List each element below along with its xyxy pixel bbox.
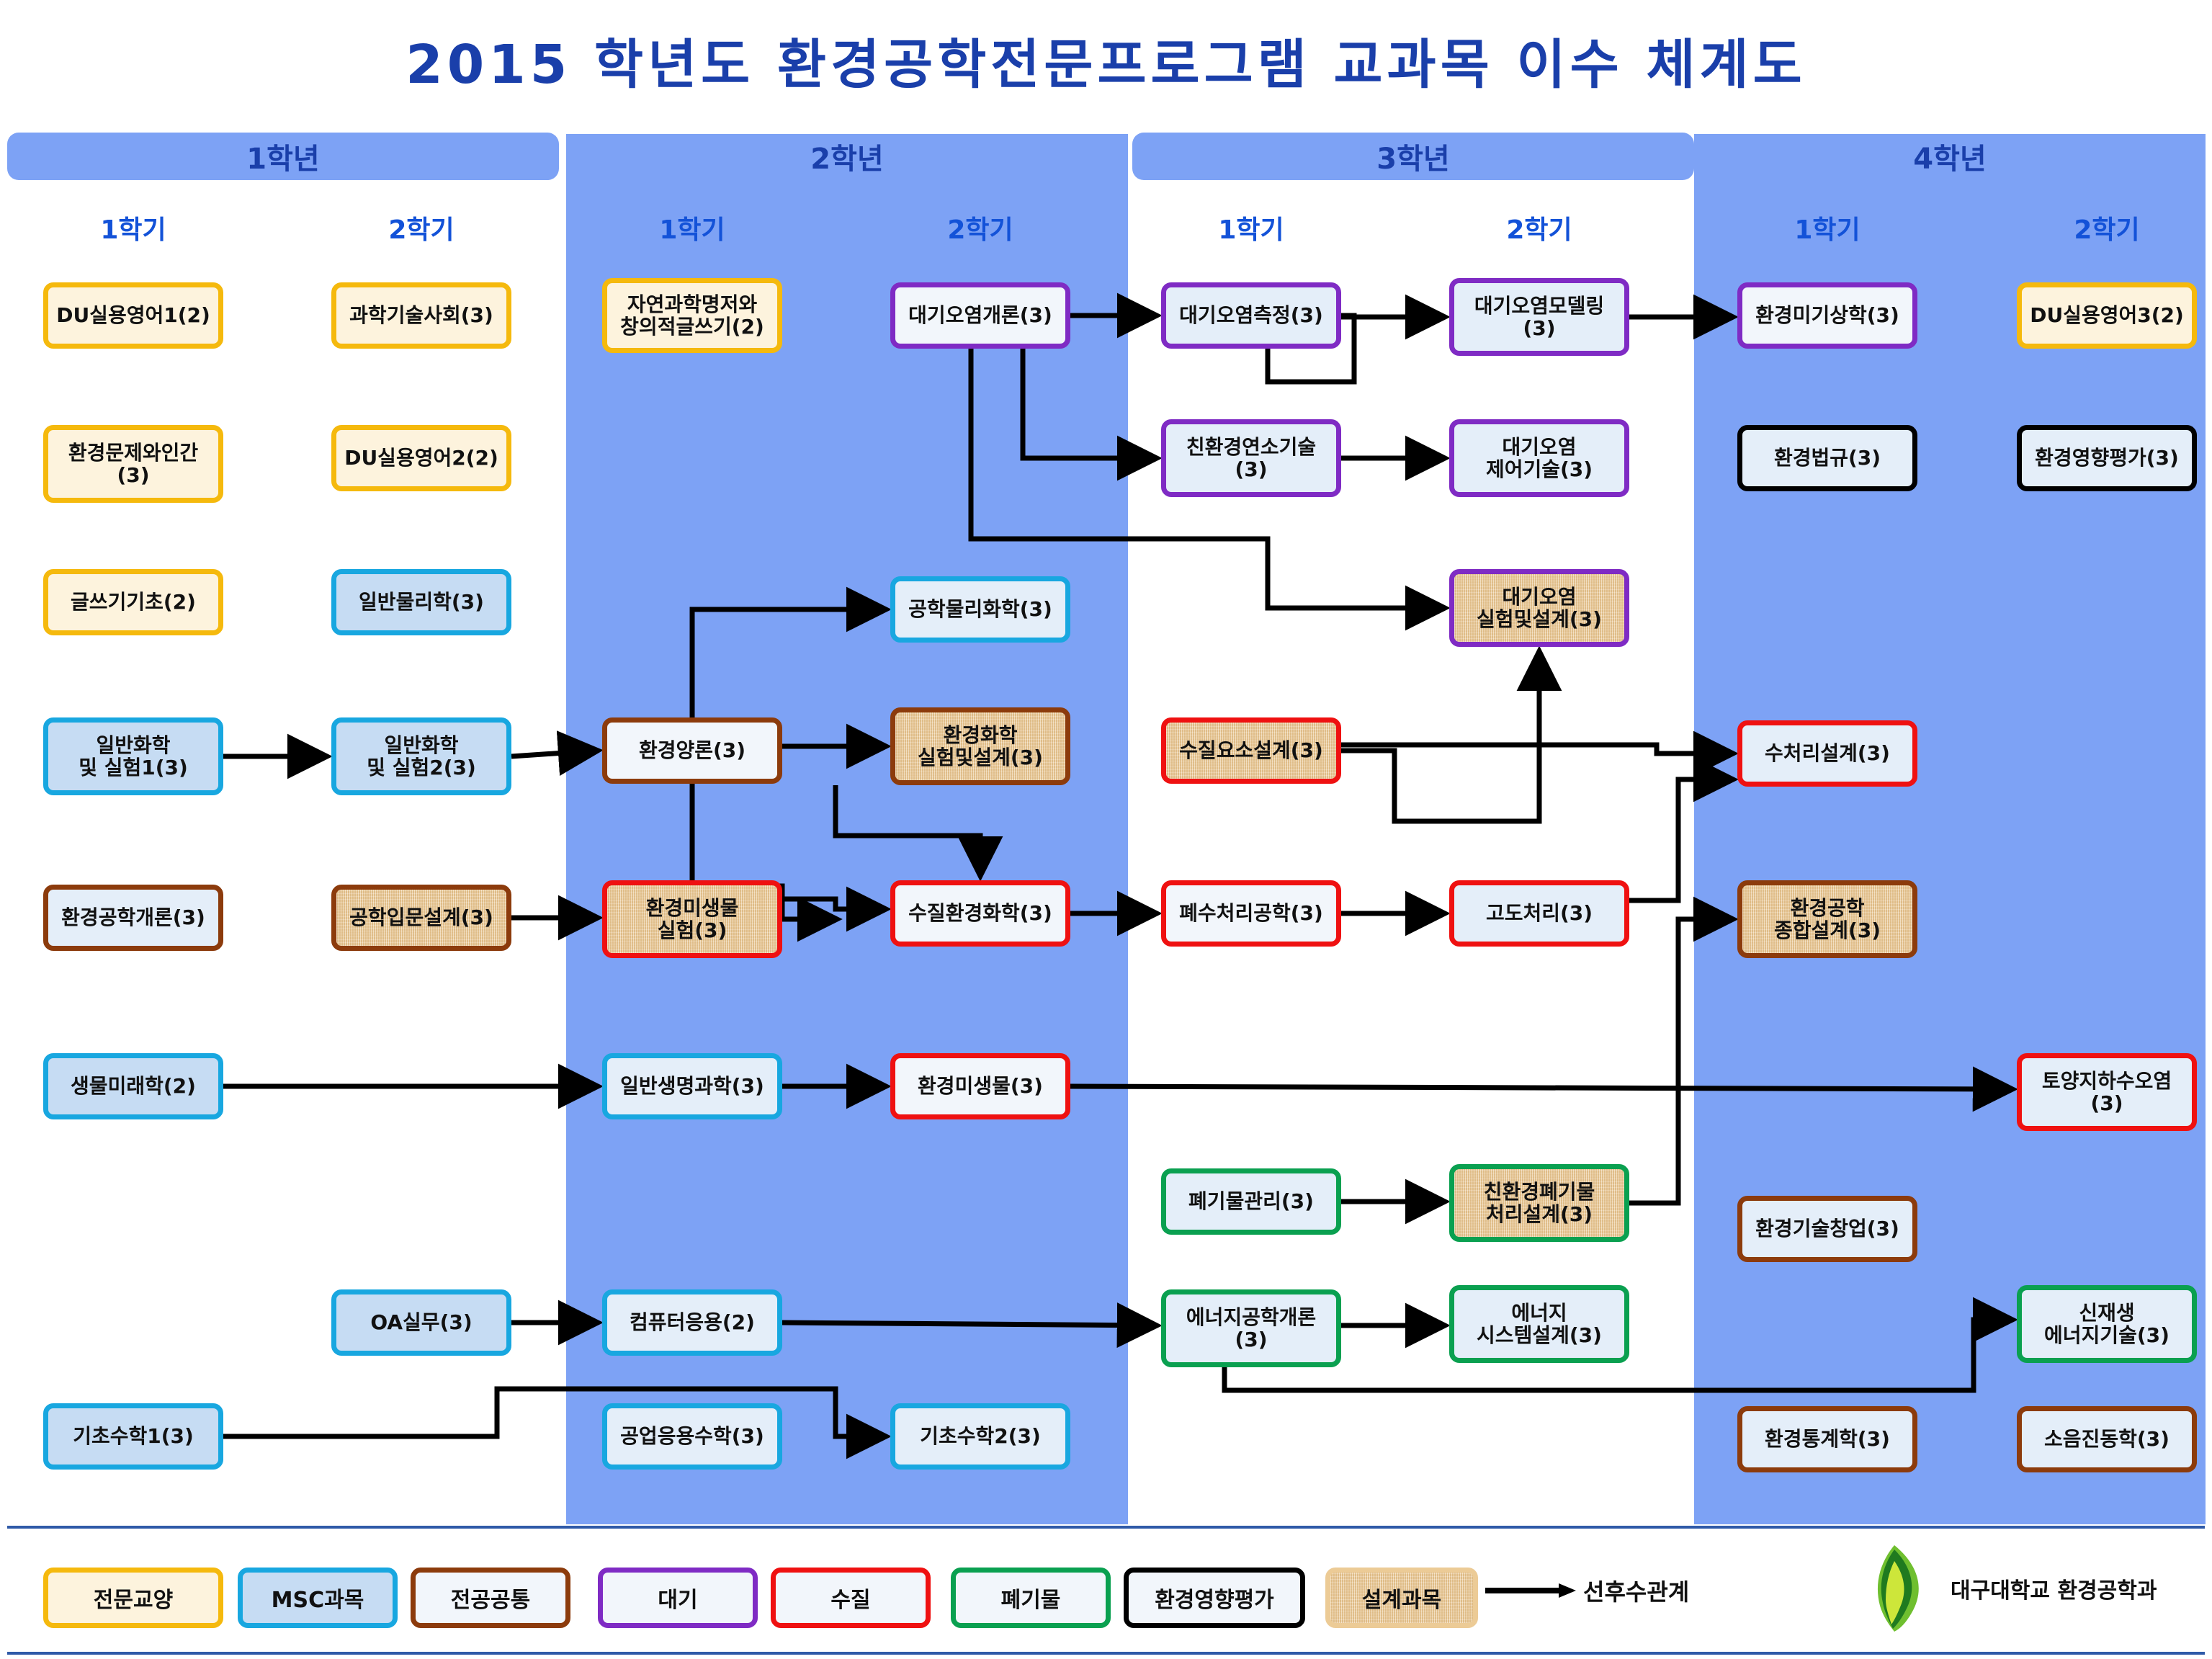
course-box-energy[interactable]: 에너지공학개론 (3): [1161, 1289, 1341, 1367]
course-box-startup[interactable]: 환경기술창업(3): [1737, 1196, 1917, 1262]
course-box-capstn[interactable]: 환경공학 종합설계(3): [1737, 880, 1917, 958]
course-box-ecowst[interactable]: 친환경폐기물 처리설계(3): [1449, 1164, 1629, 1242]
course-box-eia[interactable]: 환경영향평가(3): [2017, 425, 2197, 491]
course-box-du3[interactable]: DU실용영어3(2): [2017, 282, 2197, 349]
university-logo: 대구대학교 환경공학과: [1851, 1542, 2190, 1635]
legend-arrow-label: 선후수관계: [1583, 1574, 1689, 1607]
course-box-noise[interactable]: 소음진동학(3): [2017, 1406, 2197, 1472]
course-box-physch[interactable]: 공학물리화학(3): [890, 576, 1070, 643]
course-box-oa[interactable]: OA실무(3): [331, 1289, 511, 1356]
course-box-advtr[interactable]: 고도처리(3): [1449, 880, 1629, 947]
course-box-geul[interactable]: 글쓰기기초(2): [43, 569, 223, 635]
legend-divider-bottom: [7, 1652, 2205, 1655]
legend-divider-top: [7, 1526, 2205, 1529]
course-box-envsci[interactable]: 환경양론(3): [602, 717, 782, 784]
course-box-micmet[interactable]: 환경미기상학(3): [1737, 282, 1917, 349]
legend-item-4: 수질: [771, 1568, 931, 1628]
legend-item-5: 폐기물: [951, 1568, 1111, 1628]
daegu-university-leaf-icon: [1851, 1544, 1938, 1633]
course-box-comp[interactable]: 컴퓨터응용(2): [602, 1289, 782, 1356]
course-box-genbio[interactable]: 일반생명과학(3): [602, 1053, 782, 1119]
course-box-airexp[interactable]: 대기오염 실험및설계(3): [1449, 569, 1629, 647]
legend-item-2: 전공공통: [411, 1568, 570, 1628]
legend-item-7: 설계과목: [1325, 1568, 1478, 1628]
course-box-hwan[interactable]: 환경문제와인간 (3): [43, 425, 223, 503]
course-box-enesys[interactable]: 에너지 시스템설계(3): [1449, 1285, 1629, 1363]
course-box-airmes[interactable]: 대기오염측정(3): [1161, 282, 1341, 349]
course-box-phys[interactable]: 일반물리학(3): [331, 569, 511, 635]
arrow-icon: [1484, 1580, 1577, 1601]
course-box-renew[interactable]: 신재생 에너지기술(3): [2017, 1285, 2197, 1363]
course-box-wwtr[interactable]: 폐수처리공학(3): [1161, 880, 1341, 947]
course-box-bio[interactable]: 생물미래학(2): [43, 1053, 223, 1119]
course-box-ecocomb[interactable]: 친환경연소기술 (3): [1161, 419, 1341, 497]
course-box-airctl[interactable]: 대기오염 제어기술(3): [1449, 419, 1629, 497]
course-box-micexp[interactable]: 환경미생물 실험(3): [602, 880, 782, 958]
course-box-sci[interactable]: 과학기술사회(3): [331, 282, 511, 349]
course-box-engdes[interactable]: 공학입문설계(3): [331, 885, 511, 951]
legend-arrow-entry: 선후수관계: [1484, 1569, 1801, 1612]
course-box-envint[interactable]: 환경공학개론(3): [43, 885, 223, 951]
course-box-waste[interactable]: 폐기물관리(3): [1161, 1168, 1341, 1235]
legend-item-6: 환경영향평가: [1124, 1568, 1305, 1628]
course-box-airint[interactable]: 대기오염개론(3): [890, 282, 1070, 349]
course-box-airmod[interactable]: 대기오염모델링 (3): [1449, 278, 1629, 356]
course-box-chem2[interactable]: 일반화학 및 실험2(3): [331, 717, 511, 795]
university-name: 대구대학교 환경공학과: [1951, 1573, 2157, 1604]
legend-item-1: MSC과목: [238, 1568, 398, 1628]
course-box-envmic[interactable]: 환경미생물(3): [890, 1053, 1070, 1119]
course-box-wqdes[interactable]: 수질요소설계(3): [1161, 717, 1341, 784]
course-box-math1[interactable]: 기초수학1(3): [43, 1403, 223, 1470]
course-box-du1[interactable]: DU실용영어1(2): [43, 282, 223, 349]
course-box-natsci[interactable]: 자연과학명저와 창의적글쓰기(2): [602, 278, 782, 353]
legend-item-3: 대기: [598, 1568, 758, 1628]
course-box-math2[interactable]: 기초수학2(3): [890, 1403, 1070, 1470]
course-box-chem1[interactable]: 일반화학 및 실험1(3): [43, 717, 223, 795]
course-box-envlaw[interactable]: 환경법규(3): [1737, 425, 1917, 491]
legend-item-0: 전문교양: [43, 1568, 223, 1628]
course-box-wtrdes[interactable]: 수처리설계(3): [1737, 720, 1917, 787]
curriculum-flowchart: 2015 학년도 환경공학전문프로그램 교과목 이수 체계도 1학년 2학년 3…: [0, 0, 2212, 1659]
course-box-soil[interactable]: 토양지하수오염 (3): [2017, 1053, 2197, 1131]
course-box-envstat[interactable]: 환경통계학(3): [1737, 1406, 1917, 1472]
course-box-envchem[interactable]: 환경화학 실험및설계(3): [890, 707, 1070, 785]
course-box-engmath[interactable]: 공업응용수학(3): [602, 1403, 782, 1470]
course-box-du2[interactable]: DU실용영어2(2): [331, 425, 511, 491]
course-box-waterch[interactable]: 수질환경화학(3): [890, 880, 1070, 947]
